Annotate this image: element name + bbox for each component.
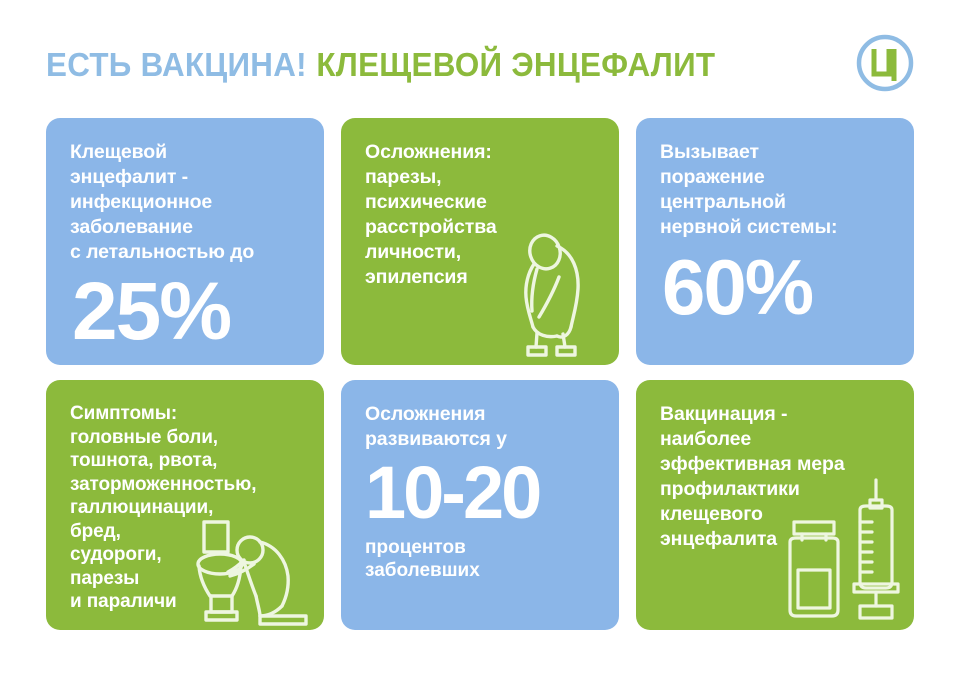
card-complications-rate-sub: процентов заболевших (365, 536, 599, 582)
tsentr-gigieny-logo-icon (856, 34, 914, 92)
page-title: ЕСТЬ ВАКЦИНА!КЛЕЩЕВОЙ ЭНЦЕФАЛИТ (46, 48, 715, 81)
card-complications-types-body: Осложнения: парезы, психические расстрой… (365, 140, 599, 290)
page-title-green: КЛЕЩЕВОЙ ЭНЦЕФАЛИТ (316, 46, 715, 83)
card-cns-damage-number: 60% (662, 250, 894, 324)
card-lethality-number: 25% (72, 273, 304, 351)
card-vaccination: Вакцинация - наиболее эффективная мера п… (636, 380, 914, 630)
infographic-poster: ЕСТЬ ВАКЦИНА!КЛЕЩЕВОЙ ЭНЦЕФАЛИТ Клещевой… (0, 0, 960, 677)
card-lethality: Клещевой энцефалит - инфекционное заболе… (46, 118, 324, 365)
card-symptoms: Симптомы: головные боли, тошнота, рвота,… (46, 380, 324, 630)
card-symptoms-body: Симптомы: головные боли, тошнота, рвота,… (70, 402, 304, 614)
card-complications-types: Осложнения: парезы, психические расстрой… (341, 118, 619, 365)
card-grid: Клещевой энцефалит - инфекционное заболе… (46, 118, 914, 630)
card-complications-rate-number: 10-20 (365, 458, 599, 528)
card-cns-damage: Вызывает поражение центральной нервной с… (636, 118, 914, 365)
card-complications-rate: Осложнения развиваются у 10-20 процентов… (341, 380, 619, 630)
card-cns-damage-body: Вызывает поражение центральной нервной с… (660, 140, 894, 240)
page-title-blue: ЕСТЬ ВАКЦИНА! (46, 46, 307, 83)
card-complications-rate-body: Осложнения развиваются у (365, 402, 599, 452)
card-vaccination-body: Вакцинация - наиболее эффективная мера п… (660, 402, 894, 552)
card-lethality-body: Клещевой энцефалит - инфекционное заболе… (70, 140, 304, 265)
poster-header: ЕСТЬ ВАКЦИНА!КЛЕЩЕВОЙ ЭНЦЕФАЛИТ (46, 36, 914, 92)
